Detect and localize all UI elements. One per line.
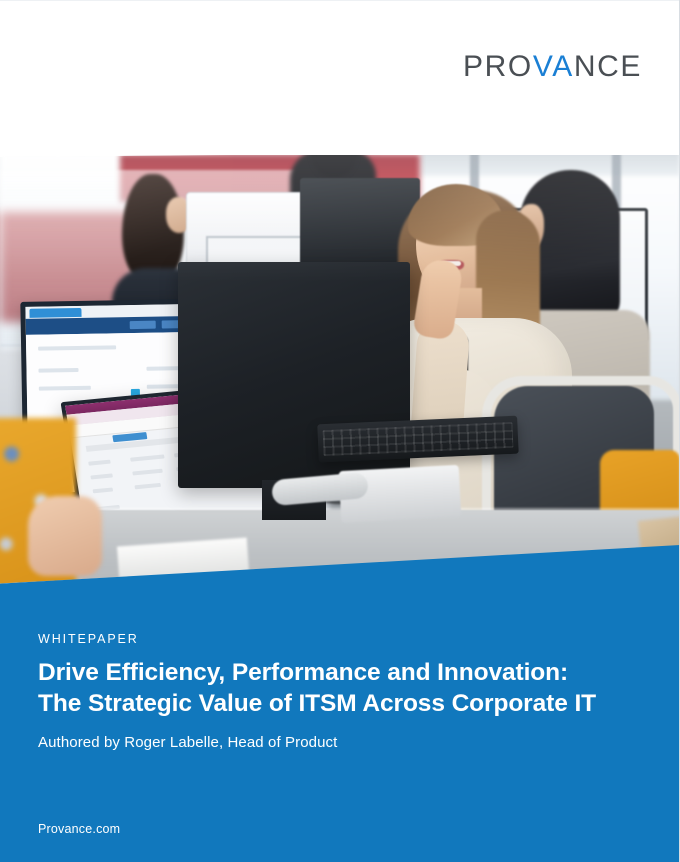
hero-photo-scene — [0, 150, 680, 590]
laptop-app-line — [90, 473, 112, 479]
footer-website-url[interactable]: Provance.com — [38, 822, 120, 836]
page-top-edge — [0, 0, 680, 1]
logo-text-nce: NCE — [574, 50, 642, 83]
whitepaper-cover-page: PROVANCE — [0, 0, 680, 862]
author-byline: Authored by Roger Labelle, Head of Produ… — [38, 734, 337, 751]
foreground-hand — [28, 496, 102, 576]
laptop-app-line — [88, 460, 110, 466]
page-title-line-1: Drive Efficiency, Performance and Innova… — [38, 657, 638, 688]
page-header: PROVANCE — [0, 0, 680, 155]
app-content-line — [38, 368, 78, 373]
app-content-line — [38, 345, 116, 350]
page-title: Drive Efficiency, Performance and Innova… — [38, 657, 638, 719]
hero-photo — [0, 150, 680, 590]
provance-logo[interactable]: PROVANCE — [463, 52, 642, 82]
logo-text-pro: PRO — [463, 50, 533, 83]
laptop-app-line — [134, 483, 160, 489]
document-type-label: WHITEPAPER — [38, 632, 139, 646]
app-browser-tab — [29, 308, 81, 318]
laptop-app-line — [130, 454, 164, 461]
page-title-line-2: The Strategic Value of ITSM Across Corpo… — [38, 688, 638, 719]
laptop-app-line — [132, 469, 162, 475]
laptop-app-line — [93, 487, 113, 492]
app-content-line — [39, 386, 91, 391]
app-nav-item — [130, 321, 156, 329]
logo-text-va: VA — [533, 50, 574, 83]
